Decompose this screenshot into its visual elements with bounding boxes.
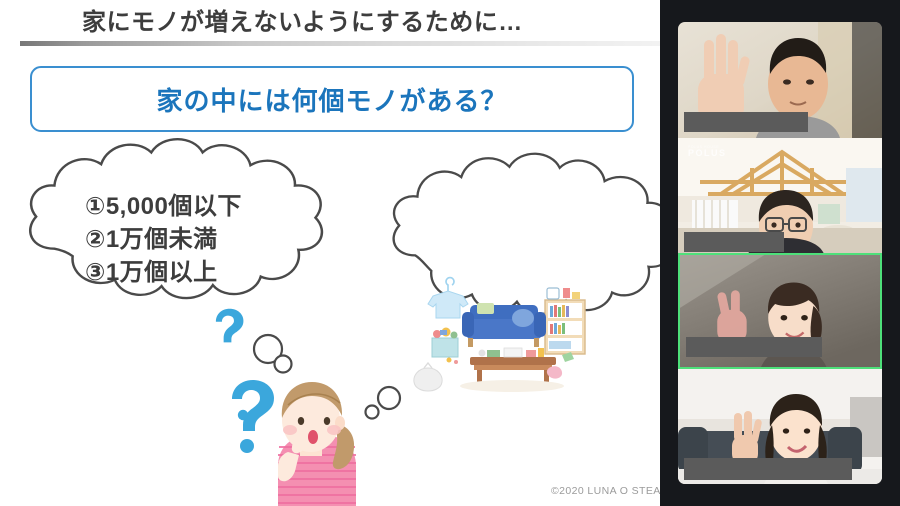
answer-option-2: ②1万個未満 <box>85 223 365 256</box>
coffee-table-icon <box>470 348 556 386</box>
thought-trail-circle-small <box>275 356 292 373</box>
polus-watermark-sub: POLUS HOUSE <box>688 146 727 149</box>
answer-option-3: ③1万個以上 <box>85 256 365 289</box>
participant-tile-1[interactable] <box>678 22 882 138</box>
toy-box-icon <box>432 328 458 358</box>
participant-tile-4[interactable] <box>678 369 882 484</box>
presentation-screen-share: 家にモノが増えないようにするために… 家の中には何個モノがある？ <box>0 0 900 506</box>
room-thought-trail-circle-small <box>366 406 379 419</box>
bookshelf-icon <box>545 288 585 354</box>
polus-watermark: POLUS HOUSE POLUS <box>688 146 727 158</box>
hanging-shirt-icon <box>428 278 468 318</box>
sofa-icon <box>462 303 546 347</box>
question-text: 家の中には何個モノがある？ <box>156 81 507 118</box>
copyright-notice: ©2020 LUNA O STEA <box>551 485 660 497</box>
participant-tile-2[interactable]: POLUS HOUSE POLUS <box>678 138 882 254</box>
slide-title: 家にモノが増えないようにするために… <box>82 6 642 40</box>
participant-tile-strip: POLUS HOUSE POLUS <box>678 22 882 484</box>
laundry-bag-icon <box>414 363 442 391</box>
woman-thinking-icon <box>278 382 356 506</box>
polus-watermark-text: POLUS <box>688 148 727 158</box>
title-underline-rule <box>20 41 660 46</box>
floor-clutter-icon <box>447 352 575 379</box>
name-blur-bar-1 <box>684 112 808 132</box>
rug-icon <box>460 380 564 392</box>
room-thought-trail-circle-large <box>378 387 400 409</box>
answer-options-list: ①5,000個以下 ②1万個未満 ③1万個以上 <box>85 190 365 289</box>
thought-trail-circle-large <box>254 335 282 363</box>
name-blur-bar-2 <box>684 232 784 252</box>
thought-bubble-living-room-icon <box>394 154 660 314</box>
question-mark-icon-small <box>216 309 248 420</box>
question-mark-icon-large <box>232 380 274 453</box>
slide-content-area: 家にモノが増えないようにするために… 家の中には何個モノがある？ <box>0 0 660 506</box>
question-callout-box: 家の中には何個モノがある？ <box>30 66 634 132</box>
name-blur-bar-4 <box>684 458 852 480</box>
name-blur-bar-3 <box>686 337 822 357</box>
participant-tile-3[interactable] <box>678 253 882 369</box>
answer-option-1: ①5,000個以下 <box>85 190 365 223</box>
video-participants-panel: POLUS HOUSE POLUS <box>660 0 900 506</box>
